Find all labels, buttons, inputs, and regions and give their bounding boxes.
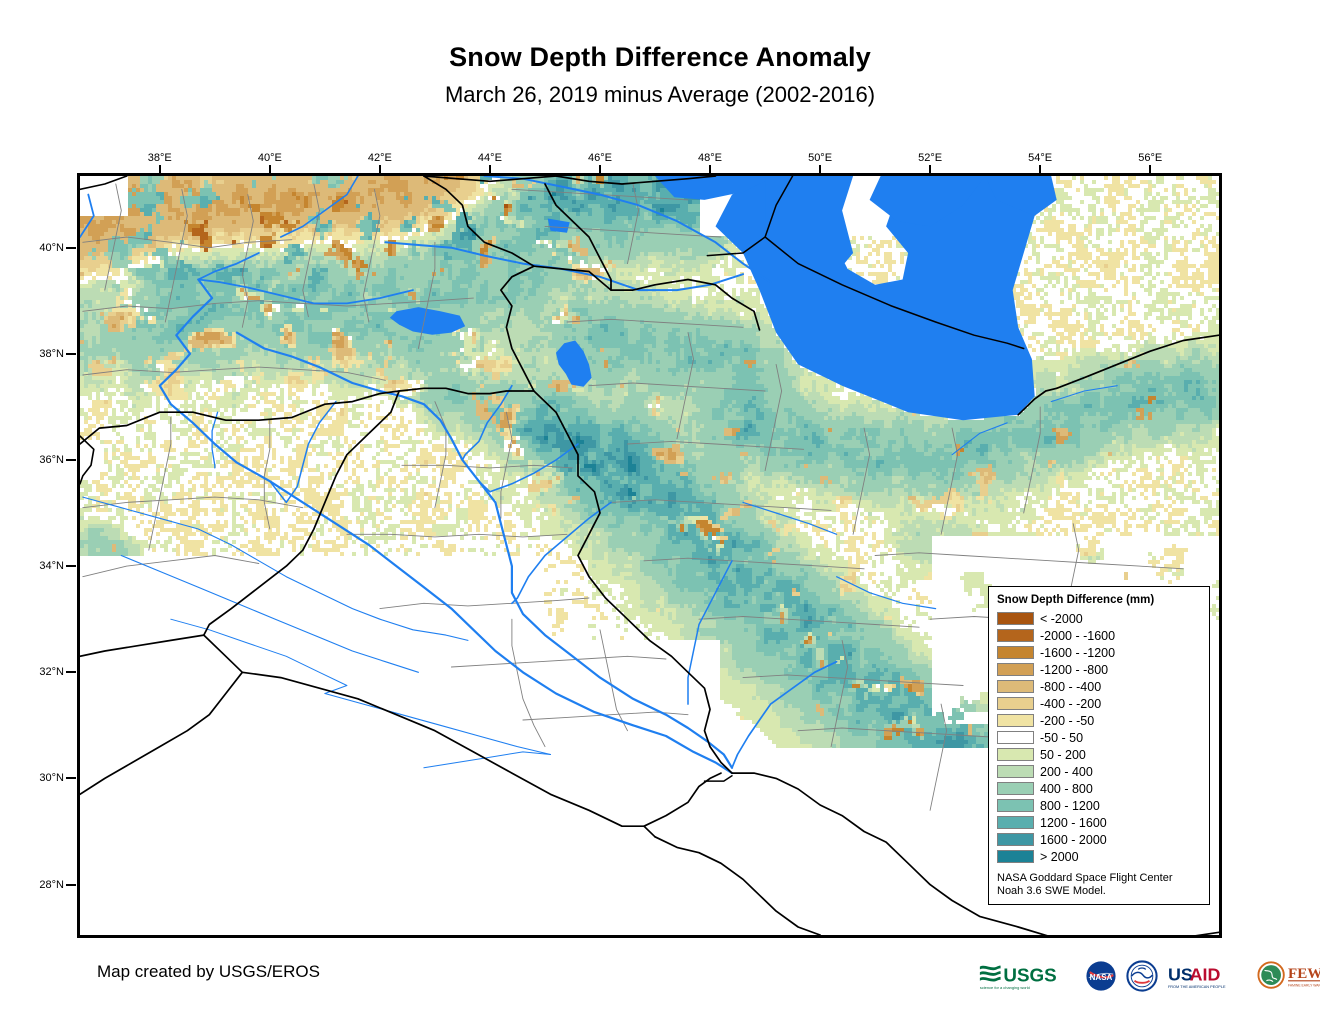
legend-footer-line1: NASA Goddard Space Flight Center [997, 872, 1201, 885]
legend-swatch [997, 663, 1034, 676]
nasa-logo: NASA [1085, 960, 1117, 992]
legend-label: 200 - 400 [1040, 765, 1093, 779]
lat-tick-mark-40 [66, 247, 76, 249]
legend-panel: Snow Depth Difference (mm) < -2000-2000 … [988, 586, 1210, 905]
legend-swatch [997, 731, 1034, 744]
legend-label: > 2000 [1040, 850, 1079, 864]
lat-tick-mark-36 [66, 459, 76, 461]
legend-swatch [997, 816, 1034, 829]
svg-text:AID: AID [1189, 965, 1220, 985]
lon-tick-label-48: 48°E [698, 152, 722, 164]
legend-swatch [997, 714, 1034, 727]
lat-tick-mark-38 [66, 353, 76, 355]
lon-tick-label-38: 38°E [148, 152, 172, 164]
legend-swatch [997, 646, 1034, 659]
legend-row: < -2000 [997, 610, 1201, 627]
legend-swatch [997, 612, 1034, 625]
lat-tick-mark-32 [66, 671, 76, 673]
lat-tick-label-28: 28°N [18, 879, 64, 891]
lon-tick-label-42: 42°E [368, 152, 392, 164]
page-subtitle: March 26, 2019 minus Average (2002-2016) [0, 80, 1320, 110]
legend-footer: NASA Goddard Space Flight Center Noah 3.… [997, 872, 1201, 898]
lon-tick-label-50: 50°E [808, 152, 832, 164]
legend-label: -200 - -50 [1040, 714, 1094, 728]
svg-text:science for a changing world: science for a changing world [980, 985, 1030, 990]
legend-swatch [997, 850, 1034, 863]
svg-text:USGS: USGS [1003, 965, 1056, 986]
anomaly-cells [504, 204, 508, 208]
legend-row: 1600 - 2000 [997, 831, 1201, 848]
legend-title: Snow Depth Difference (mm) [997, 594, 1201, 606]
legend-label: -2000 - -1600 [1040, 629, 1115, 643]
legend-label: -1600 - -1200 [1040, 646, 1115, 660]
legend-swatch [997, 680, 1034, 693]
legend-row: -2000 - -1600 [997, 627, 1201, 644]
legend-row: -800 - -400 [997, 678, 1201, 695]
fewsnet-logo: FEWS NET FAMINE EARLY WARNING SYSTEMS NE… [1257, 960, 1320, 992]
legend-label: 50 - 200 [1040, 748, 1086, 762]
svg-text:FROM THE AMERICAN PEOPLE: FROM THE AMERICAN PEOPLE [1168, 985, 1226, 989]
legend-label: 1200 - 1600 [1040, 816, 1107, 830]
noaa-logo [1126, 960, 1158, 992]
lon-tick-label-46: 46°E [588, 152, 612, 164]
usaid-logo: US AID FROM THE AMERICAN PEOPLE [1167, 960, 1248, 992]
legend-swatch [997, 629, 1034, 642]
legend-row: -50 - 50 [997, 729, 1201, 746]
legend-label: 800 - 1200 [1040, 799, 1100, 813]
svg-text:FEWS NET: FEWS NET [1288, 966, 1320, 982]
legend-row: -200 - -50 [997, 712, 1201, 729]
legend-swatch [997, 833, 1034, 846]
title-block: Snow Depth Difference Anomaly March 26, … [0, 40, 1320, 110]
lon-tick-label-54: 54°E [1028, 152, 1052, 164]
legend-row: 50 - 200 [997, 746, 1201, 763]
lon-tick-label-44: 44°E [478, 152, 502, 164]
lat-tick-label-30: 30°N [18, 772, 64, 784]
legend-label: 1600 - 2000 [1040, 833, 1107, 847]
page-title: Snow Depth Difference Anomaly [0, 40, 1320, 74]
legend-label: < -2000 [1040, 612, 1083, 626]
svg-text:NASA: NASA [1090, 973, 1113, 982]
lat-tick-label-34: 34°N [18, 560, 64, 572]
legend-row: -400 - -200 [997, 695, 1201, 712]
legend-row: 800 - 1200 [997, 797, 1201, 814]
legend-footer-line2: Noah 3.6 SWE Model. [997, 885, 1201, 898]
legend-class-list: < -2000-2000 - -1600-1600 - -1200-1200 -… [997, 610, 1201, 865]
svg-text:FAMINE EARLY WARNING SYSTEMS N: FAMINE EARLY WARNING SYSTEMS NETWORK [1288, 983, 1320, 987]
legend-row: 200 - 400 [997, 763, 1201, 780]
legend-row: 1200 - 1600 [997, 814, 1201, 831]
lat-tick-label-32: 32°N [18, 666, 64, 678]
legend-swatch [997, 782, 1034, 795]
lat-tick-label-40: 40°N [18, 242, 64, 254]
lat-tick-label-36: 36°N [18, 454, 64, 466]
lon-tick-label-52: 52°E [918, 152, 942, 164]
legend-swatch [997, 697, 1034, 710]
lon-tick-label-56: 56°E [1138, 152, 1162, 164]
legend-row: -1200 - -800 [997, 661, 1201, 678]
usgs-logo: USGS science for a changing world [978, 960, 1076, 992]
legend-swatch [997, 748, 1034, 761]
legend-row: > 2000 [997, 848, 1201, 865]
map-credit: Map created by USGS/EROS [97, 962, 320, 982]
lat-tick-mark-34 [66, 565, 76, 567]
legend-swatch [997, 799, 1034, 812]
legend-row: -1600 - -1200 [997, 644, 1201, 661]
lat-tick-mark-28 [66, 884, 76, 886]
legend-label: -50 - 50 [1040, 731, 1083, 745]
lat-tick-label-38: 38°N [18, 348, 64, 360]
legend-swatch [997, 765, 1034, 778]
legend-row: 400 - 800 [997, 780, 1201, 797]
legend-label: 400 - 800 [1040, 782, 1093, 796]
lat-tick-mark-30 [66, 777, 76, 779]
legend-label: -400 - -200 [1040, 697, 1101, 711]
legend-label: -800 - -400 [1040, 680, 1101, 694]
lon-tick-label-40: 40°E [258, 152, 282, 164]
logo-bar: USGS science for a changing world NASA U… [978, 958, 1320, 994]
legend-label: -1200 - -800 [1040, 663, 1108, 677]
